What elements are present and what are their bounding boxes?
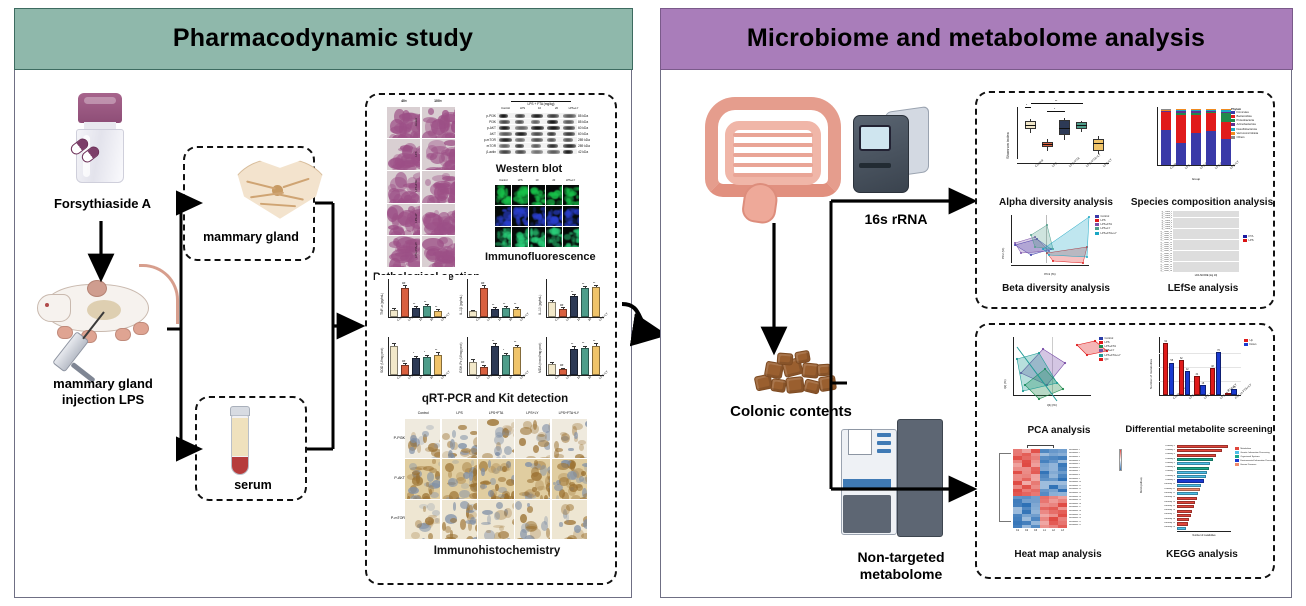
- stack-segment: [1191, 133, 1201, 165]
- qrtpcr-chart: IL-10 (pg/mL)Control##LPS**10**20**LPS+L…: [533, 275, 607, 327]
- bar-value-label: 48: [1210, 365, 1215, 368]
- bar: [1185, 371, 1190, 395]
- stack-segment: [1161, 110, 1171, 111]
- kegg-bar: [1177, 505, 1194, 508]
- kegg-bar: [1177, 467, 1209, 470]
- kegg-pathway-label: Pathway 5: [1137, 462, 1175, 465]
- dendrogram-left: [999, 453, 1011, 522]
- median-line: [1025, 125, 1036, 126]
- wb-band: [515, 150, 526, 154]
- stack-segment: [1161, 110, 1171, 111]
- ihc-col-label: Control: [405, 411, 441, 415]
- stack-segment: [1206, 131, 1216, 165]
- error-cap: [515, 345, 519, 346]
- kegg-bar: [1177, 479, 1204, 482]
- wb-band: [547, 120, 558, 124]
- significance-marker: **: [492, 339, 494, 343]
- error-bar: [596, 344, 597, 346]
- wb-band: [563, 138, 573, 142]
- error-cap: [436, 352, 440, 353]
- stack-segment: [1206, 110, 1216, 111]
- sample-label-mammary-gland: mammary gland: [185, 230, 317, 245]
- bar-value-label: 76: [1216, 349, 1221, 352]
- heatmap-cell: [1031, 525, 1040, 529]
- ihc-row-label: P-mTOR: [377, 516, 405, 520]
- sig-bracket: [1047, 111, 1065, 112]
- chart-lefse: g__Taxon_1g__Taxon_2g__Taxon_3g__Taxon_4…: [1139, 207, 1267, 281]
- kegg-pathway-label: Pathway 14: [1137, 501, 1175, 504]
- error-bar: [416, 356, 417, 358]
- heatmap-cell: [1049, 525, 1058, 529]
- results-box-pharmacodynamic: 40× 100× Pathological section LPS + FTA …: [365, 93, 617, 585]
- heatmap-col-label: C3: [1031, 529, 1040, 532]
- error-cap: [425, 355, 429, 356]
- y-axis-label: KEGG pathway: [1141, 477, 1143, 493]
- error-bar: [574, 295, 575, 297]
- ihc-col-label: LPS+LY: [514, 411, 550, 415]
- median-line: [1059, 128, 1070, 129]
- error-cap: [594, 343, 598, 344]
- ihc-tile: [552, 459, 587, 498]
- pathological-section-grid: [387, 107, 455, 267]
- chart-pca: ControlLPSLPS+FTALPS+LYLPS+FTA+LYQCt[2] …: [991, 333, 1125, 421]
- wb-band: [547, 138, 556, 142]
- ihc-row-label: P-PI3K: [377, 436, 405, 440]
- immunofluorescence-tile: [563, 185, 579, 205]
- wb-band: [563, 132, 575, 136]
- error-cap: [482, 285, 486, 286]
- error-bar: [473, 360, 474, 362]
- error-bar: [552, 363, 553, 365]
- significance-marker: **: [571, 290, 573, 294]
- error-cap: [392, 343, 396, 344]
- immunofluorescence-tile: [512, 227, 528, 247]
- if-row-label: ZO-1: [495, 185, 498, 205]
- bar: [592, 287, 600, 317]
- bar: [480, 288, 488, 318]
- heatmap-col-label: C2: [1022, 529, 1031, 532]
- y-axis-label: IL-10 (pg/mL): [538, 295, 542, 315]
- bar: [570, 349, 578, 375]
- bar: [502, 355, 510, 375]
- legend: ControlLPSLPS+FTALPS+LYLPS+FTA+LY: [1095, 215, 1117, 236]
- error-bar: [484, 365, 485, 366]
- bar: [548, 364, 556, 375]
- bar-value-label: 10: [1231, 386, 1236, 389]
- if-col-label: LPS: [512, 179, 529, 182]
- immunofluorescence-tile: [563, 206, 579, 226]
- pathology-tile: [422, 139, 455, 170]
- caption-differential-metabolite: Differential metabolite screening: [1123, 425, 1275, 436]
- bar: [513, 347, 521, 375]
- significance-marker: **: [514, 340, 516, 344]
- error-cap: [561, 307, 565, 308]
- kegg-pathway-label: Pathway 19: [1137, 522, 1175, 525]
- error-cap: [471, 359, 475, 360]
- heatmap-cell: [1058, 525, 1067, 529]
- wb-band: [515, 138, 525, 142]
- stack-segment: [1191, 115, 1201, 133]
- significance-marker: **: [435, 305, 437, 309]
- median-line: [1076, 125, 1087, 126]
- wb-band: [531, 132, 543, 136]
- sample-label-serum: serum: [197, 478, 309, 493]
- panel-left-title: Pharmacodynamic study: [173, 24, 473, 53]
- stack-segment: [1221, 113, 1231, 122]
- x-axis: [1017, 163, 1109, 164]
- error-bar: [506, 307, 507, 308]
- wb-band: [499, 114, 508, 118]
- ihc-row-labels: P-PI3KP-AKTP-mTOR: [377, 419, 405, 539]
- panel-right-header: Microbiome and metabolome analysis: [660, 8, 1293, 70]
- stack-segment: [1206, 113, 1216, 131]
- bar: [401, 365, 409, 375]
- error-bar: [394, 309, 395, 311]
- kegg-pathway-label: Pathway 4: [1137, 458, 1175, 461]
- bar: [423, 306, 431, 317]
- kegg-pathway-label: Pathway 6: [1137, 466, 1175, 469]
- stack-segment: [1221, 110, 1231, 112]
- error-cap: [392, 308, 396, 309]
- y-axis: [467, 279, 468, 317]
- stack-segment: [1176, 110, 1186, 111]
- stack-segment: [1221, 109, 1231, 110]
- y-axis-label: MDA (nmol/mg prot): [538, 343, 542, 373]
- error-cap: [504, 353, 508, 354]
- y-axis: [546, 337, 547, 375]
- if-col-label: 10: [529, 179, 546, 182]
- bar: [502, 308, 510, 317]
- caption-heatmap: Heat map analysis: [991, 549, 1125, 561]
- path-row-label: LPS: [415, 139, 418, 169]
- chart-differential-metabolite: 9258Control vs LPS6242LPS vs FTA3418LPS …: [1137, 333, 1267, 421]
- path-row-label: Control: [415, 107, 418, 137]
- whisker-lower: [1047, 147, 1048, 150]
- y-axis-label: TNF-α (pg/mL): [380, 293, 384, 315]
- immunofluorescence-tile: [546, 185, 562, 205]
- x-axis-label: t[1] (%): [1013, 403, 1091, 407]
- bar: [570, 296, 578, 317]
- y-axis: [546, 279, 547, 317]
- wb-row-label: p-AKT: [474, 126, 496, 130]
- y-axis: [1157, 107, 1158, 165]
- bar: [390, 310, 398, 317]
- wb-row-label: p-PI3K: [474, 114, 496, 118]
- ihc-tile: [442, 419, 477, 458]
- significance-marker: **: [1055, 99, 1057, 103]
- kegg-bar: [1177, 492, 1198, 495]
- ihc-tile: [405, 419, 440, 458]
- error-cap: [414, 306, 418, 307]
- y-axis-label: PC2 (%): [1001, 248, 1005, 259]
- bar: [1200, 385, 1205, 395]
- error-bar: [427, 305, 428, 306]
- y-axis: [388, 279, 389, 317]
- immunofluorescence-tile: [529, 227, 545, 247]
- error-bar: [574, 347, 575, 349]
- ihc-row-label: P-AKT: [377, 476, 405, 480]
- stack-segment: [1161, 112, 1171, 130]
- stack-segment: [1176, 113, 1186, 115]
- error-bar: [517, 307, 518, 308]
- bar-value-label: 92: [1163, 340, 1168, 343]
- wb-col-label: 20: [548, 107, 565, 110]
- dendrogram-top: [1027, 445, 1054, 448]
- stack-segment: [1176, 110, 1186, 113]
- if-column-labels: ControlLPS1020LPS+LY: [495, 179, 579, 184]
- error-cap: [414, 356, 418, 357]
- wb-band: [531, 114, 543, 118]
- error-cap: [425, 304, 429, 305]
- error-bar: [427, 355, 428, 357]
- bar-value-label: 4: [1225, 389, 1230, 392]
- error-bar: [563, 368, 564, 369]
- wb-band: [531, 138, 543, 142]
- bar: [592, 346, 600, 375]
- error-cap: [482, 365, 486, 366]
- significance-marker: **: [424, 300, 426, 304]
- wb-band: [499, 150, 511, 154]
- panel-right-body: Colonic contents 16s rRNA N: [661, 71, 1291, 597]
- wb-band: [563, 126, 575, 130]
- significance-marker: **: [413, 302, 415, 306]
- error-bar: [506, 353, 507, 355]
- bar: [491, 309, 499, 317]
- y-axis-label: GSH-Px (U/mg prot): [459, 342, 463, 373]
- stack-segment: [1161, 111, 1171, 112]
- x-axis-label: Group: [1157, 177, 1235, 181]
- wb-band: [499, 138, 512, 142]
- error-bar: [495, 344, 496, 346]
- error-bar: [596, 286, 597, 288]
- ihc-col-label: LPS: [441, 411, 477, 415]
- chart-heatmap: Metabolite 1Metabolite 2Metabolite 3Meta…: [991, 441, 1125, 545]
- wb-band: [531, 126, 544, 130]
- bar: [513, 309, 521, 317]
- ihc-tile: [515, 419, 550, 458]
- x-axis-label: LDA SCORE (log 10): [1173, 274, 1239, 277]
- qrtpcr-chart: MDA (nmol/mg prot)Control##LPS**10**20**…: [533, 333, 607, 385]
- bar: [401, 288, 409, 317]
- wb-kda-label: 85 kDa: [578, 120, 588, 124]
- wb-col-label: LPS+LY: [565, 107, 582, 110]
- heatmap-cell: [1013, 525, 1022, 529]
- if-col-label: 20: [545, 179, 562, 182]
- if-row-labels: ZO-1DAPIMerge: [479, 185, 495, 247]
- wb-band: [563, 114, 576, 118]
- immunofluorescence-tile: [512, 185, 528, 205]
- sequencer-icon: [847, 107, 939, 197]
- kegg-pathway-label: Pathway 15: [1137, 505, 1175, 508]
- path-col-label-1: 40×: [389, 99, 419, 103]
- kegg-bar: [1177, 518, 1189, 521]
- kegg-bar: [1177, 514, 1191, 517]
- lefse-taxon-label: g__Taxon_28: [1141, 270, 1172, 272]
- bar: [423, 357, 431, 375]
- chart-species-composition: ControlLPSLPS+FTALPS+FTA+LYLPS+LYPhylumF…: [1139, 101, 1267, 193]
- lefse-row-frame: [1173, 270, 1239, 272]
- wb-column-labels: ControlLPS1020LPS+LY: [497, 107, 583, 112]
- bar: [1216, 352, 1221, 395]
- immunofluorescence-grid: [495, 185, 579, 247]
- if-col-label: LPS+LY: [562, 179, 579, 182]
- wb-row-label: AKT: [474, 132, 496, 136]
- if-row-label: DAPI: [495, 206, 498, 226]
- wb-kda-label: 289 kDa: [578, 138, 590, 142]
- qrtpcr-chart-grid: TNF-α (pg/mL)Control##LPS**10**20**LPS+L…: [375, 275, 611, 391]
- caption-beta-diversity: Beta diversity analysis: [985, 283, 1127, 295]
- sample-box-mammary-gland: mammary gland: [183, 146, 315, 261]
- error-bar: [416, 307, 417, 308]
- caption-pca: PCA analysis: [995, 425, 1123, 437]
- path-row-label: LPS+FTA+LY: [415, 235, 418, 265]
- colonic-contents-icon: [749, 353, 857, 399]
- significance-marker: **: [571, 342, 573, 346]
- error-cap: [436, 309, 440, 310]
- significance-marker: *: [413, 351, 414, 355]
- kegg-bar: [1177, 527, 1186, 530]
- y-axis: [388, 337, 389, 375]
- x-axis-label: Number of metabolites: [1177, 535, 1231, 537]
- whisker-lower: [1081, 129, 1082, 132]
- caption-lefse: LEfSe analysis: [1135, 283, 1271, 295]
- stack-segment: [1191, 110, 1201, 111]
- stack-segment: [1176, 109, 1186, 110]
- kegg-pathway-label: Pathway 3: [1137, 453, 1175, 456]
- error-cap: [550, 362, 554, 363]
- significance-marker: ##: [481, 360, 484, 364]
- wb-band: [499, 120, 510, 124]
- wb-band: [547, 150, 560, 154]
- immunofluorescence-tile: [529, 185, 545, 205]
- if-row-label: Merge: [495, 227, 498, 247]
- x-tick-label: LPS+LY: [1102, 157, 1113, 167]
- ihc-tile: [442, 500, 477, 539]
- legend: UpDown: [1244, 339, 1256, 347]
- panel-left-body: Forsythiaside A mammary gland injection …: [15, 71, 631, 597]
- ihc-col-label: LPS+FTA+LY: [551, 411, 587, 415]
- bar-value-label: 42: [1185, 368, 1190, 371]
- error-bar: [394, 344, 395, 346]
- error-bar: [563, 308, 564, 309]
- stack-segment: [1206, 109, 1216, 110]
- kegg-bar: [1177, 449, 1222, 452]
- kegg-bar: [1177, 475, 1206, 478]
- wb-col-label: LPS: [514, 107, 531, 110]
- box: [1093, 139, 1104, 150]
- wb-band: [531, 150, 543, 154]
- results-box-metabolome: ControlLPSLPS+FTALPS+LYLPS+FTA+LYQCt[2] …: [975, 323, 1275, 579]
- stack-segment: [1191, 109, 1201, 110]
- wb-band: [563, 150, 573, 154]
- error-bar: [473, 310, 474, 311]
- mammary-gland-icon: [230, 158, 330, 220]
- ihc-tile: [442, 459, 477, 498]
- pathology-tile: [422, 107, 455, 138]
- significance-marker: **: [492, 303, 494, 307]
- chart-beta-diversity: ControlLPSLPS+FTALPS+LYLPS+FTA+LYPC2 (%)…: [991, 211, 1121, 281]
- stack-segment: [1161, 109, 1171, 110]
- wb-band: [499, 132, 512, 136]
- ihc-tile: [478, 459, 513, 498]
- significance-marker: ##: [402, 281, 405, 285]
- pathology-tile: [422, 236, 455, 267]
- bar: [1179, 360, 1184, 395]
- bar: [1210, 368, 1215, 395]
- kegg-pathway-label: Pathway 20: [1137, 526, 1175, 529]
- qrtpcr-chart: IL-1β (pg/mL)Control##LPS**10**20**LPS+L…: [454, 275, 528, 327]
- kegg-pathway-label: Pathway 7: [1137, 470, 1175, 473]
- whisker-lower: [1098, 151, 1099, 154]
- error-bar: [438, 310, 439, 311]
- wb-group-label: LPS + FTA (mg/kg): [511, 101, 571, 106]
- error-cap: [493, 343, 497, 344]
- error-bar: [585, 346, 586, 348]
- wb-bands: [497, 113, 577, 155]
- wb-row-label: p-mTOR: [474, 138, 496, 142]
- wb-kda-label: 60 kDa: [578, 126, 588, 130]
- wb-band: [563, 144, 576, 148]
- wb-band: [515, 126, 528, 130]
- x-axis-label: PC1 (%): [1011, 272, 1089, 276]
- legend: ControlLPSLPS+FTALPS+LYLPS+FTA+LYQC: [1099, 337, 1121, 362]
- significance-marker: *: [1054, 107, 1055, 111]
- ihc-tile: [478, 500, 513, 539]
- y-axis-label: SOD (U/mg prot): [380, 348, 384, 373]
- y-axis-label: IL-1β (pg/mL): [459, 295, 463, 315]
- wb-row-label: β-actin: [474, 150, 496, 154]
- bar: [434, 311, 442, 317]
- y-axis: [1017, 107, 1018, 159]
- ihc-tile: [405, 500, 440, 539]
- x-axis: [1159, 395, 1241, 396]
- kegg-bar: [1177, 510, 1192, 513]
- wb-band: [515, 132, 527, 136]
- bar: [559, 369, 567, 375]
- wb-kda-label: 289 kDa: [578, 144, 590, 148]
- sample-box-serum: serum: [195, 396, 307, 501]
- significance-marker: **: [582, 282, 584, 286]
- caption-immunofluorescence: Immunofluorescence: [485, 251, 589, 264]
- y-axis-label: Number of metabolites: [1149, 359, 1153, 389]
- wb-band: [547, 132, 556, 136]
- median-line: [1042, 144, 1053, 145]
- significance-marker: **: [514, 302, 516, 306]
- stack-segment: [1206, 112, 1216, 113]
- kegg-bar: [1177, 501, 1195, 504]
- x-axis: [1177, 531, 1231, 532]
- bar: [469, 311, 477, 317]
- colorbar: [1119, 449, 1122, 471]
- bar: [412, 358, 420, 375]
- wb-band: [547, 126, 560, 130]
- bar-value-label: 18: [1200, 382, 1205, 385]
- wb-kda-label: 85 kDa: [578, 114, 588, 118]
- panel-pharmacodynamic-study: Pharmacodynamic study Forsythiaside A: [14, 8, 632, 598]
- bar: [469, 362, 477, 375]
- bar: [1225, 393, 1230, 395]
- branch-label-non-targeted-metabolome: Non-targeted metabolome: [821, 549, 981, 583]
- qrtpcr-chart: GSH-Px (U/mg prot)Control##LPS**10*20**L…: [454, 333, 528, 385]
- kegg-bar: [1177, 484, 1201, 487]
- heatmap-cell: [1022, 525, 1031, 529]
- y-axis-label: Shannon index: [1005, 132, 1010, 159]
- bar: [412, 308, 420, 317]
- if-col-label: Control: [495, 179, 512, 182]
- ihc-tile: [405, 459, 440, 498]
- error-cap: [471, 310, 475, 311]
- qrtpcr-chart: SOD (U/mg prot)Control##LPS*10*20**LPS+L…: [375, 333, 449, 385]
